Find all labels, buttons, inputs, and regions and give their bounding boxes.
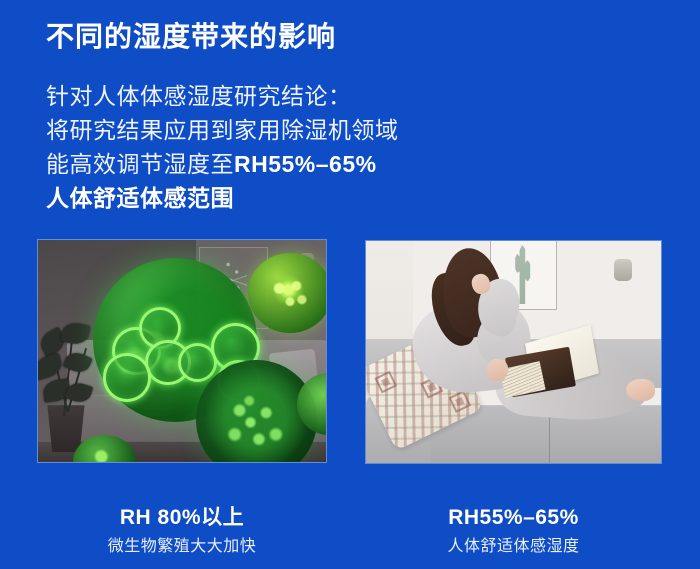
page-title: 不同的湿度带来的影响 [46, 18, 336, 56]
caption-high-humidity: RH 80%以上 微生物繁殖大大加快 [38, 505, 326, 559]
caption-title: RH 80%以上 [38, 505, 326, 531]
body-line-3: 能高效调节湿度至RH55%–65% [46, 147, 399, 181]
body-line-3-highlight: RH55%–65% [234, 151, 377, 177]
caption-subtitle: 人体舒适体感湿度 [366, 535, 661, 559]
caption-comfort-humidity: RH55%–65% 人体舒适体感湿度 [366, 505, 661, 559]
body-copy: 针对人体体感湿度研究结论： 将研究结果应用到家用除湿机领域 能高效调节湿度至RH… [46, 79, 399, 215]
caption-subtitle: 微生物繁殖大大加快 [38, 535, 326, 559]
wall-speaker-icon [614, 259, 632, 281]
photo-comfort-humidity [366, 241, 661, 463]
woman-foot [626, 379, 656, 401]
poster-root: 不同的湿度带来的影响 针对人体体感湿度研究结论： 将研究结果应用到家用除湿机领域… [0, 0, 700, 569]
body-line-1: 针对人体体感湿度研究结论： [46, 79, 399, 113]
photo-high-humidity [38, 240, 326, 462]
caption-title: RH55%–65% [366, 505, 661, 531]
plant-leaf [60, 320, 91, 346]
body-line-4: 人体舒适体感范围 [46, 181, 399, 215]
plant-leaf [38, 352, 64, 380]
microbe-sphere-small [248, 253, 326, 333]
pillow-motif [448, 390, 471, 413]
body-line-3-prefix: 能高效调节湿度至 [46, 151, 234, 177]
body-line-2: 将研究结果应用到家用除湿机领域 [46, 113, 399, 147]
pillow-motif [374, 371, 397, 394]
microbe-cell [103, 353, 152, 402]
